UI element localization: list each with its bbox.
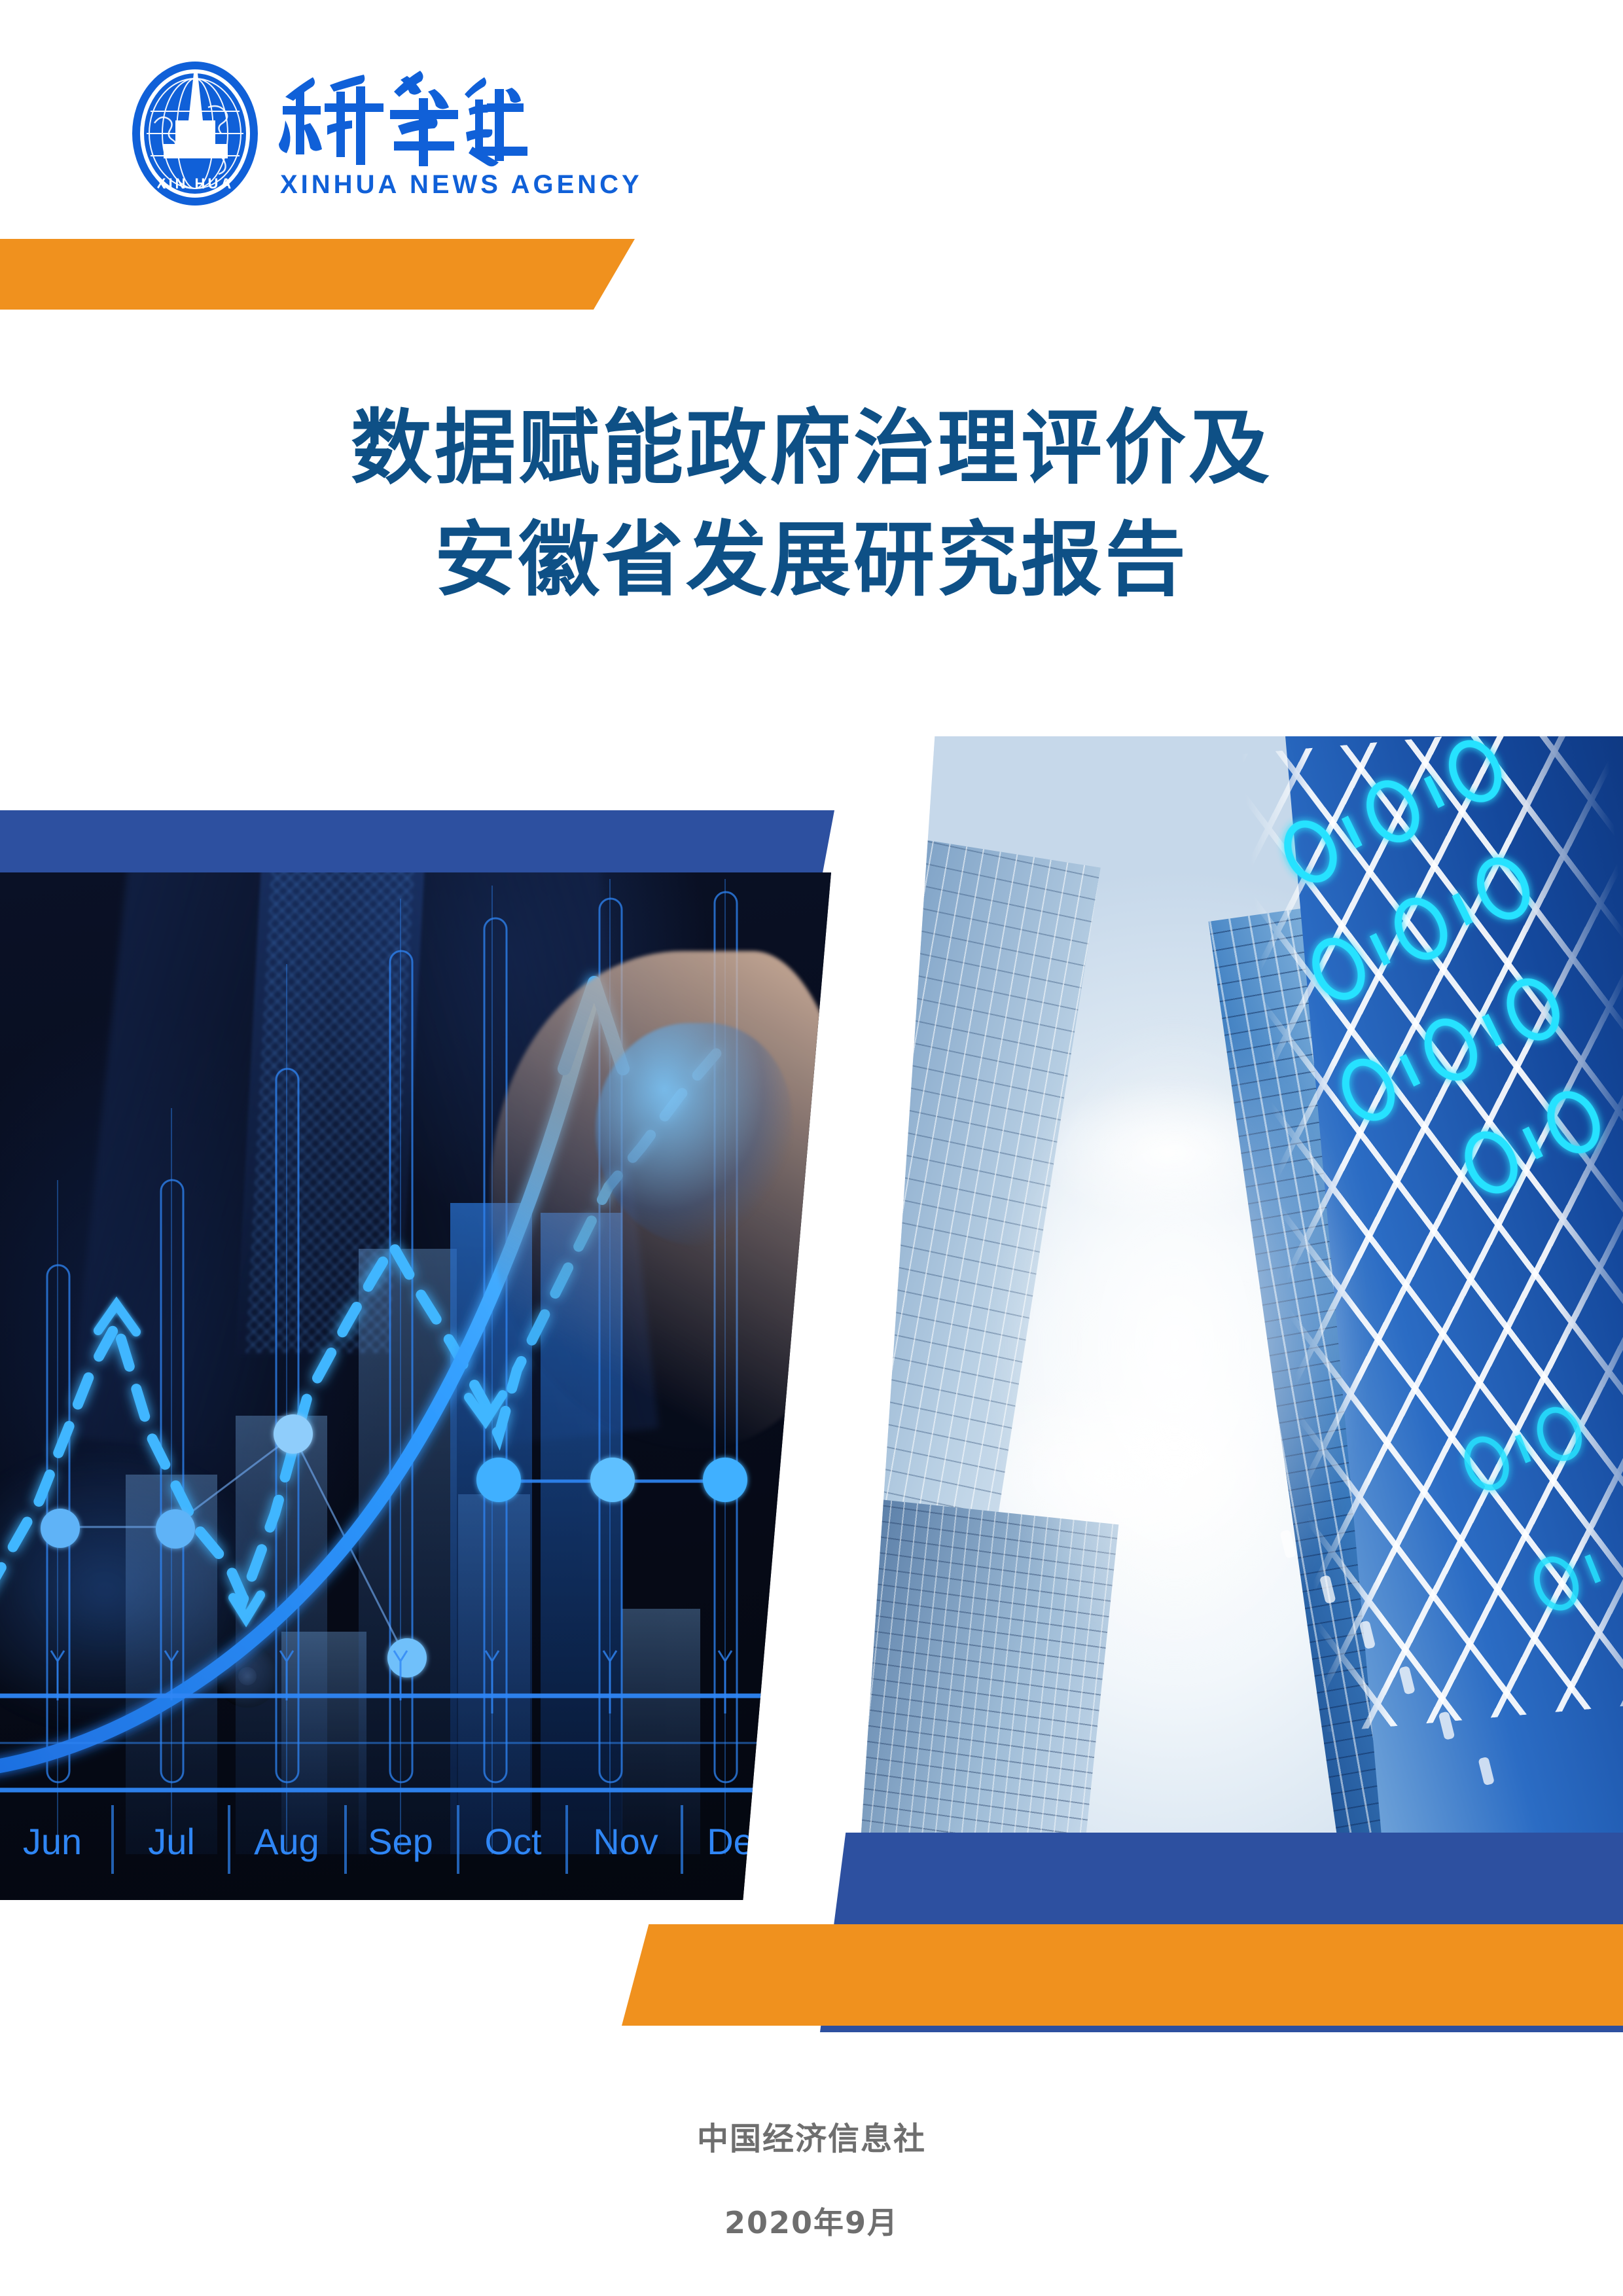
digital-binary-overlay	[854, 736, 1623, 1939]
x-tick-label: Dec	[707, 1821, 772, 1862]
xinhua-english-wordmark: XINHUA NEWS AGENCY	[280, 170, 643, 200]
title-line-2: 安徽省发展研究报告	[0, 505, 1623, 617]
x-tick-label: Oct	[484, 1821, 542, 1862]
x-tick-label: Jul	[148, 1821, 195, 1862]
business-chart-photo: Jun Jul Aug Sep Oct Nov Dec	[0, 872, 831, 1900]
publication-date: 2020年9月	[0, 2199, 1623, 2242]
emblem-text: XIN HUA	[156, 175, 234, 192]
footer: 中国经济信息社 2020年9月	[0, 2113, 1623, 2242]
publisher-name: 中国经济信息社	[0, 2113, 1623, 2159]
orange-banner-bottom	[622, 1924, 1623, 2026]
skyscrapers-photo	[854, 736, 1623, 1939]
x-tick-label: Jun	[23, 1821, 82, 1862]
xinhua-logo: XIN HUA	[130, 60, 522, 211]
page-title: 数据赋能政府治理评价及 安徽省发展研究报告	[0, 393, 1623, 617]
orange-banner-top	[0, 239, 635, 310]
cover-page: XIN HUA	[0, 0, 1623, 2296]
title-line-1: 数据赋能政府治理评价及	[0, 393, 1623, 505]
xinhua-chinese-wordmark	[279, 63, 527, 181]
x-tick-label: Nov	[593, 1821, 658, 1862]
x-tick-label: Aug	[254, 1821, 319, 1862]
x-tick-label: Sep	[368, 1821, 433, 1862]
xinhua-globe-emblem: XIN HUA	[130, 60, 260, 211]
